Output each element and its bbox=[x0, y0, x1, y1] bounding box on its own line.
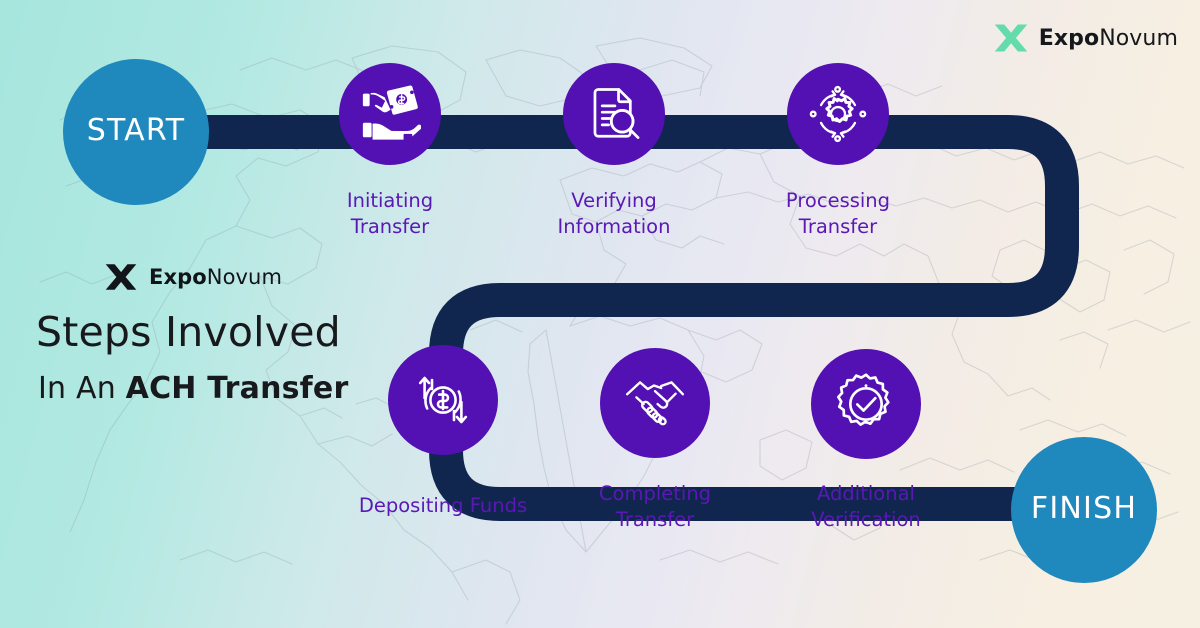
step-3-label: Processing Transfer bbox=[738, 188, 938, 240]
page-subtitle: In An ACH Transfer bbox=[38, 371, 466, 406]
step-3-processing-transfer[interactable] bbox=[787, 63, 889, 165]
finish-node: FINISH bbox=[1011, 437, 1157, 583]
wordmark-regular: Novum bbox=[1099, 26, 1178, 51]
headline-wordmark: ExpoNovum bbox=[149, 265, 282, 289]
wordmark-bold: Expo bbox=[1039, 26, 1099, 51]
start-node: START bbox=[63, 59, 209, 205]
subtitle-bold: ACH Transfer bbox=[126, 371, 349, 406]
exponovum-x-mark-icon bbox=[993, 22, 1029, 54]
gear-refresh-icon bbox=[807, 83, 869, 145]
step-2-verifying-information[interactable] bbox=[563, 63, 665, 165]
headline-logo: ExpoNovum bbox=[104, 262, 466, 292]
step-1-label: Initiating Transfer bbox=[290, 188, 490, 240]
step-5-label: Completing Transfer bbox=[555, 481, 755, 533]
wordmark-bold: Expo bbox=[149, 265, 207, 289]
step-1-initiating-transfer[interactable] bbox=[339, 63, 441, 165]
corner-wordmark: ExpoNovum bbox=[1039, 26, 1178, 51]
step-4-label: Depositing Funds bbox=[333, 493, 553, 519]
step-6-label: Additional Verification bbox=[766, 481, 966, 533]
wordmark-regular: Novum bbox=[207, 265, 282, 289]
page-title: Steps Involved bbox=[36, 310, 466, 354]
infographic-canvas: START FINISH Initiating Transfer bbox=[0, 0, 1200, 628]
document-search-icon bbox=[585, 85, 643, 143]
step-6-additional-verification[interactable] bbox=[811, 349, 921, 459]
subtitle-prefix: In An bbox=[38, 371, 126, 406]
step-2-label: Verifying Information bbox=[514, 188, 714, 240]
exponovum-x-mark-icon bbox=[104, 262, 138, 292]
headline-block: ExpoNovum Steps Involved In An ACH Trans… bbox=[36, 262, 466, 406]
corner-logo[interactable]: ExpoNovum bbox=[993, 22, 1178, 54]
handshake-icon bbox=[622, 370, 688, 436]
verified-badge-icon bbox=[833, 371, 899, 437]
finish-label: FINISH bbox=[1031, 494, 1137, 524]
step-5-completing-transfer[interactable] bbox=[600, 348, 710, 458]
start-label: START bbox=[87, 116, 186, 146]
hand-cash-icon bbox=[359, 83, 421, 145]
